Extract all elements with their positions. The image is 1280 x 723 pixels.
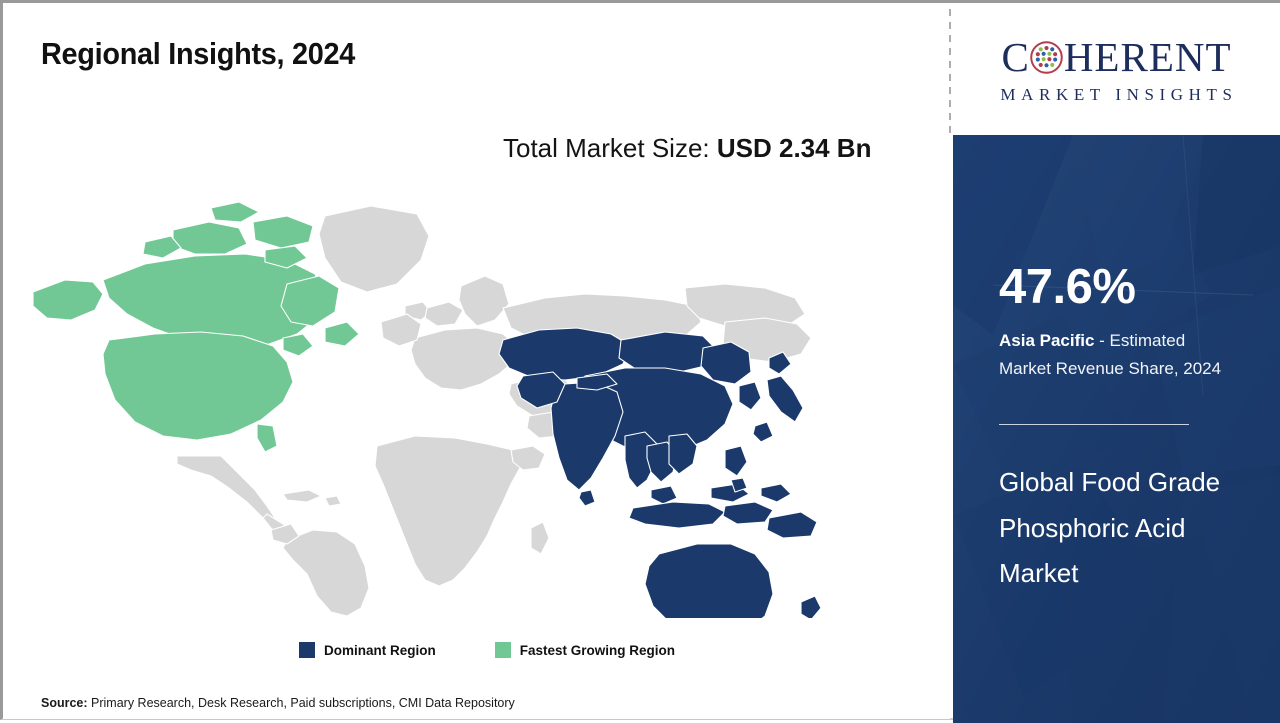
logo-tagline: MARKET INSIGHTS — [995, 85, 1237, 105]
stat-region-name: Asia Pacific — [999, 331, 1094, 350]
dominant-region-swatch — [299, 642, 315, 658]
texture-svg — [953, 135, 1280, 723]
stat-description: Asia Pacific - Estimated Market Revenue … — [999, 327, 1239, 382]
legend-item-dominant: Dominant Region — [299, 642, 436, 658]
legend-label-dominant: Dominant Region — [324, 643, 436, 658]
map-region-fastest-growing — [33, 202, 359, 452]
map-legend: Dominant Region Fastest Growing Region — [299, 642, 675, 658]
world-map-svg — [25, 188, 825, 618]
company-logo: C HERENT MARKET INSIGHTS — [953, 6, 1280, 135]
infographic-slide: Regional Insights, 2024 Total Market Siz… — [0, 0, 1280, 720]
left-content-panel: Regional Insights, 2024 Total Market Siz… — [3, 3, 950, 719]
world-map — [25, 188, 825, 618]
stat-sidebar: 47.6% Asia Pacific - Estimated Market Re… — [953, 135, 1280, 723]
logo-wordmark-rest: HERENT — [1064, 37, 1232, 78]
legend-label-fastest-growing: Fastest Growing Region — [520, 643, 675, 658]
stat-percentage: 47.6% — [999, 263, 1135, 312]
logo-letter-c: C — [1001, 37, 1029, 78]
total-market-size: Total Market Size: USD 2.34 Bn — [503, 129, 895, 167]
globe-icon — [1030, 41, 1063, 74]
logo-wordmark: C HERENT — [1001, 37, 1231, 78]
source-note: Source: Primary Research, Desk Research,… — [41, 696, 515, 710]
sidebar-background-texture — [953, 135, 1280, 723]
fastest-growing-region-swatch — [495, 642, 511, 658]
sidebar-divider-rule — [999, 424, 1189, 425]
source-text: Primary Research, Desk Research, Paid su… — [88, 696, 515, 710]
market-size-value: USD 2.34 Bn — [717, 133, 872, 163]
market-size-label: Total Market Size: — [503, 133, 717, 163]
page-title: Regional Insights, 2024 — [41, 36, 355, 72]
market-report-title: Global Food Grade Phosphoric Acid Market — [999, 460, 1239, 597]
legend-item-fastest-growing: Fastest Growing Region — [495, 642, 675, 658]
source-label: Source: — [41, 696, 88, 710]
map-region-dominant — [499, 328, 825, 618]
vertical-dashed-divider — [949, 9, 951, 135]
